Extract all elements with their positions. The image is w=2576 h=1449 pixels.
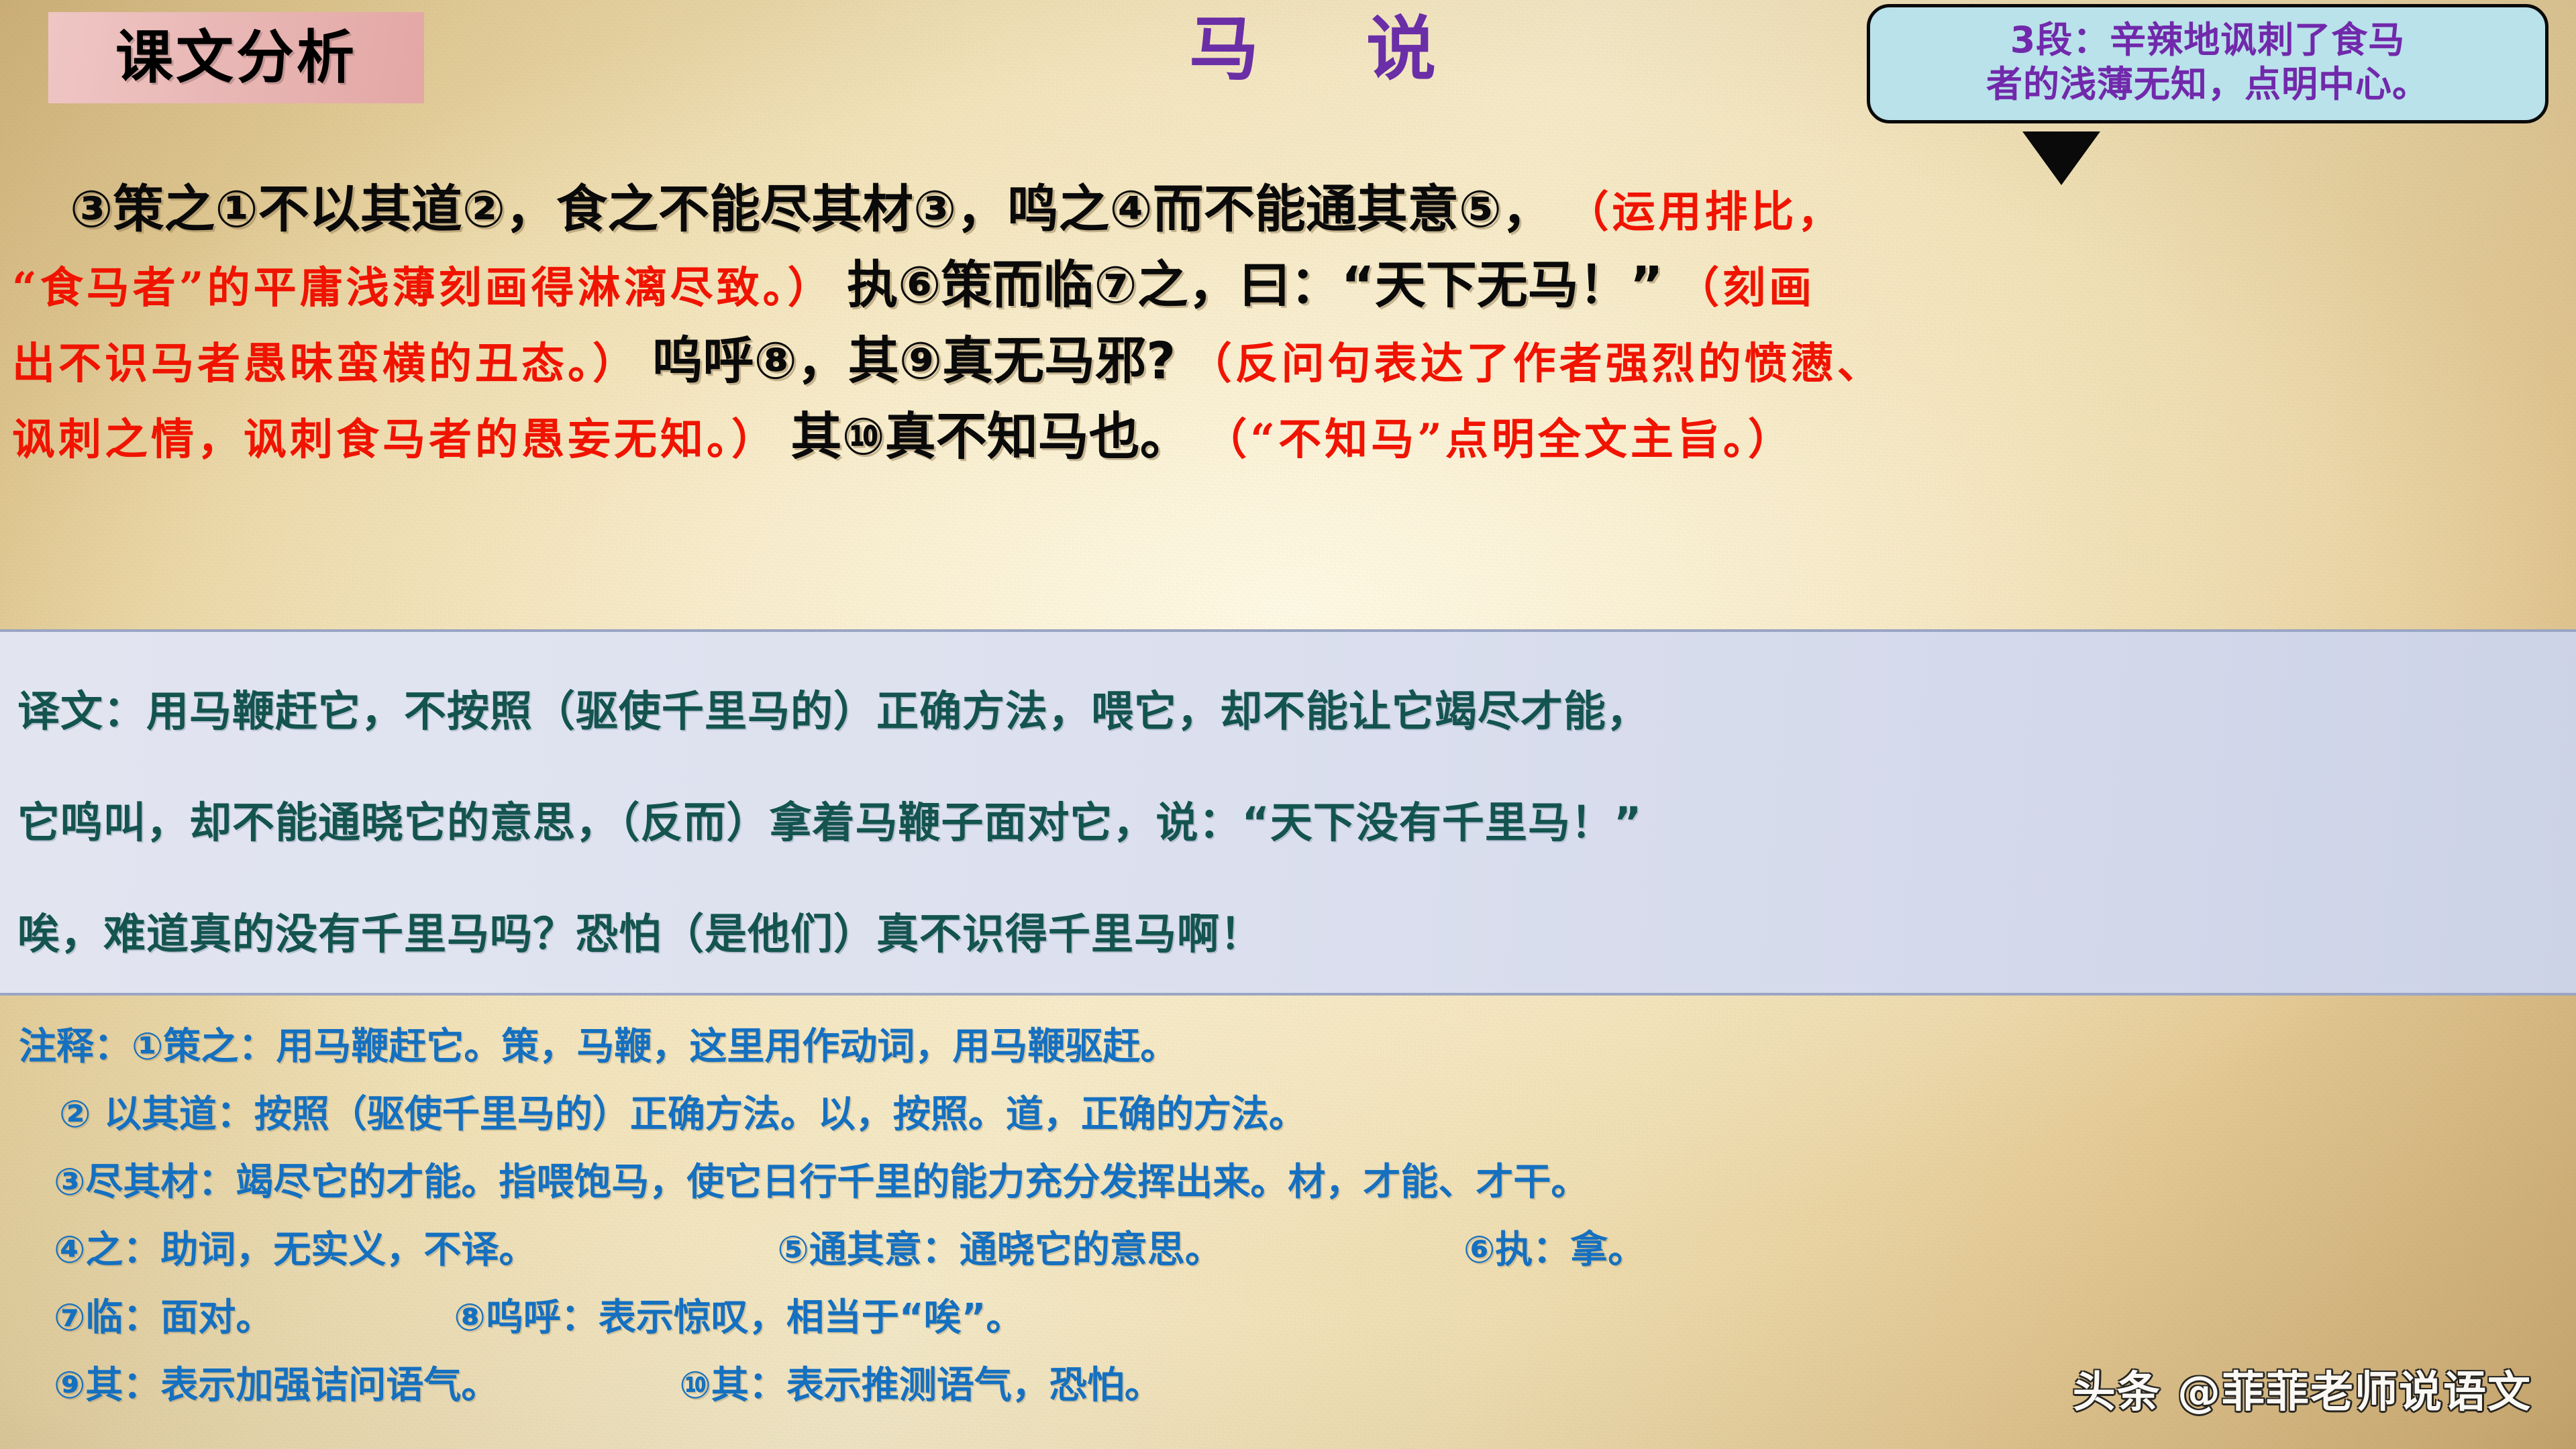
annotation-6-item-a: ⑨其：表示加强诘问语气。 (54, 1364, 499, 1407)
watermark: 头条 @菲菲老师说语文 (2073, 1358, 2532, 1419)
annotation-line-3: ③尽其材：竭尽它的才能。指喂饱马，使它日行千里的能力充分发挥出来。材，才能、才干… (19, 1148, 2557, 1216)
annotation-4-item-b: ⑤通其意：通晓它的意思。 (777, 1228, 1222, 1272)
translation-line-1: 译文：用马鞭赶它，不按照（驱使千里马的）正确方法，喂它，却不能让它竭尽才能， (17, 656, 2559, 767)
classical-line-2: “食马者”的平庸浅薄刻画得淋漓尽致。） 执⑥策而临⑦之，曰：“天下无马！” （刻… (12, 249, 2564, 325)
classical-line-4-note-b: （“不知马”点明全文主旨。） (1204, 415, 1794, 465)
annotation-4-item-c: ⑥执：拿。 (1463, 1228, 1645, 1272)
classical-line-1-han: ③策之①不以其道②，食之不能尽其材③，鸣之④而不能通其意⑤， (70, 179, 1553, 239)
callout-line-1: 3段：辛辣地讽刺了食马 (1889, 18, 2526, 62)
annotation-line-5: ⑦临：面对。 ⑧呜呼：表示惊叹，相当于“唉”。 (19, 1284, 2557, 1352)
classical-line-3: 出不识马者愚昧蛮横的丑态。） 呜呼⑧，其⑨真无马邪? （反问句表达了作者强烈的愤… (12, 325, 2564, 400)
classical-line-1: ③策之①不以其道②，食之不能尽其材③，鸣之④而不能通其意⑤， （运用排比， (12, 173, 2564, 249)
translation-line-3: 唉，难道真的没有千里马吗？恐怕（是他们）真不识得千里马啊！ (17, 879, 2559, 990)
translation-line-2: 它鸣叫，却不能通晓它的意思，（反而）拿着马鞭子面对它，说：“天下没有千里马！” (17, 767, 2559, 879)
translation-panel: 译文：用马鞭赶它，不按照（驱使千里马的）正确方法，喂它，却不能让它竭尽才能， 它… (0, 629, 2576, 996)
annotation-5-item-a: ⑦临：面对。 (54, 1296, 273, 1340)
classical-line-3-han: 呜呼⑧，其⑨真无马邪? (652, 331, 1176, 390)
classical-line-3-note-a: 出不识马者愚昧蛮横的丑态。） (12, 339, 639, 389)
classical-line-2-note-a: “食马者”的平庸浅薄刻画得淋漓尽致。） (12, 263, 834, 313)
classical-line-2-note-b: （刻画 (1676, 263, 1815, 313)
annotation-line-1: 注释：①策之：用马鞭赶它。策，马鞭，这里用作动词，用马鞭驱赶。 (19, 1013, 2557, 1081)
classical-line-4-han: 其⑩真不知马也。 (790, 407, 1190, 466)
classical-line-4: 讽刺之情，讽刺食马者的愚妄无知。） 其⑩真不知马也。 （“不知马”点明全文主旨。… (12, 400, 2564, 476)
classical-line-4-note-a: 讽刺之情，讽刺食马者的愚妄无知。） (12, 415, 778, 465)
section-banner: 课文分析 (48, 12, 424, 103)
annotation-line-2: ② 以其道：按照（驱使千里马的）正确方法。以，按照。道，正确的方法。 (19, 1081, 2557, 1148)
classical-line-3-note-b: （反问句表达了作者强烈的愤懑、 (1189, 339, 1884, 389)
page-title: 马 说 (926, 5, 1718, 93)
classical-line-1-note: （运用排比， (1566, 187, 1844, 237)
callout-line-2: 者的浅薄无知，点明中心。 (1889, 62, 2526, 107)
summary-callout: 3段：辛辣地讽刺了食马 者的浅薄无知，点明中心。 (1867, 4, 2548, 123)
classical-text-block: ③策之①不以其道②，食之不能尽其材③，鸣之④而不能通其意⑤， （运用排比， “食… (0, 173, 2576, 476)
classical-line-2-han: 执⑥策而临⑦之，曰：“天下无马！” (847, 255, 1663, 315)
banner-label: 课文分析 (115, 29, 357, 87)
annotation-4-item-a: ④之：助词，无实义，不译。 (54, 1228, 536, 1272)
annotation-6-item-b: ⑩其：表示推测语气，恐怕。 (679, 1364, 1162, 1407)
annotation-5-item-b: ⑧呜呼：表示惊叹，相当于“唉”。 (454, 1296, 1023, 1340)
annotation-line-4: ④之：助词，无实义，不译。 ⑤通其意：通晓它的意思。 ⑥执：拿。 (19, 1216, 2557, 1284)
